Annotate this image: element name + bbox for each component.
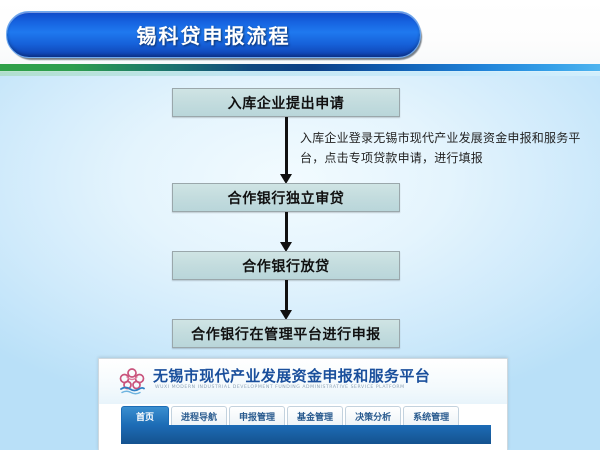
tab-fund-management[interactable]: 基金管理 (287, 406, 343, 425)
embedded-platform-screenshot: 无锡市现代产业发展资金申报和服务平台 WUXI MODERN INDUSTRIA… (98, 358, 508, 450)
flow-node-1: 入库企业提出申请 (172, 88, 400, 117)
tab-decision-analysis[interactable]: 决策分析 (345, 406, 401, 425)
flow-connector-2 (285, 212, 288, 242)
platform-nav-region: 首页 进程导航 申报管理 基金管理 决策分析 系统管理 (99, 404, 507, 450)
flow-node-2-label: 合作银行独立审贷 (228, 188, 345, 208)
tab-home[interactable]: 首页 (121, 406, 169, 425)
platform-logo-icon (116, 365, 148, 397)
flow-node-2: 合作银行独立审贷 (172, 183, 400, 212)
platform-navbar-strip (121, 425, 491, 444)
flow-node-4: 合作银行在管理平台进行申报 (172, 319, 400, 348)
platform-subtitle: WUXI MODERN INDUSTRIAL DEVELOPMENT FUNDI… (155, 385, 405, 390)
flow-connector-1 (285, 117, 288, 174)
platform-content-area (121, 444, 491, 450)
slide-canvas: 锡科贷申报流程 入库企业提出申请 合作银行独立审贷 合作银行放贷 合作银行在管理… (0, 0, 600, 450)
tab-system-management[interactable]: 系统管理 (403, 406, 459, 425)
flow-node-4-label: 合作银行在管理平台进行申报 (191, 324, 381, 344)
tab-application-management[interactable]: 申报管理 (229, 406, 285, 425)
flow-node-3: 合作银行放贷 (172, 251, 400, 280)
flow-node-3-label: 合作银行放贷 (242, 256, 330, 276)
platform-tabbar[interactable]: 首页 进程导航 申报管理 基金管理 决策分析 系统管理 (121, 406, 459, 425)
flow-node-1-label: 入库企业提出申请 (228, 93, 345, 113)
flow-annotation-text: 入库企业登录无锡市现代产业发展资金申报和服务平台，点击专项贷款申请，进行填报 (300, 128, 596, 168)
tab-process-navigation[interactable]: 进程导航 (171, 406, 227, 425)
platform-header: 无锡市现代产业发展资金申报和服务平台 WUXI MODERN INDUSTRIA… (99, 359, 507, 404)
flow-connector-3 (285, 280, 288, 310)
platform-title: 无锡市现代产业发展资金申报和服务平台 (153, 365, 430, 386)
